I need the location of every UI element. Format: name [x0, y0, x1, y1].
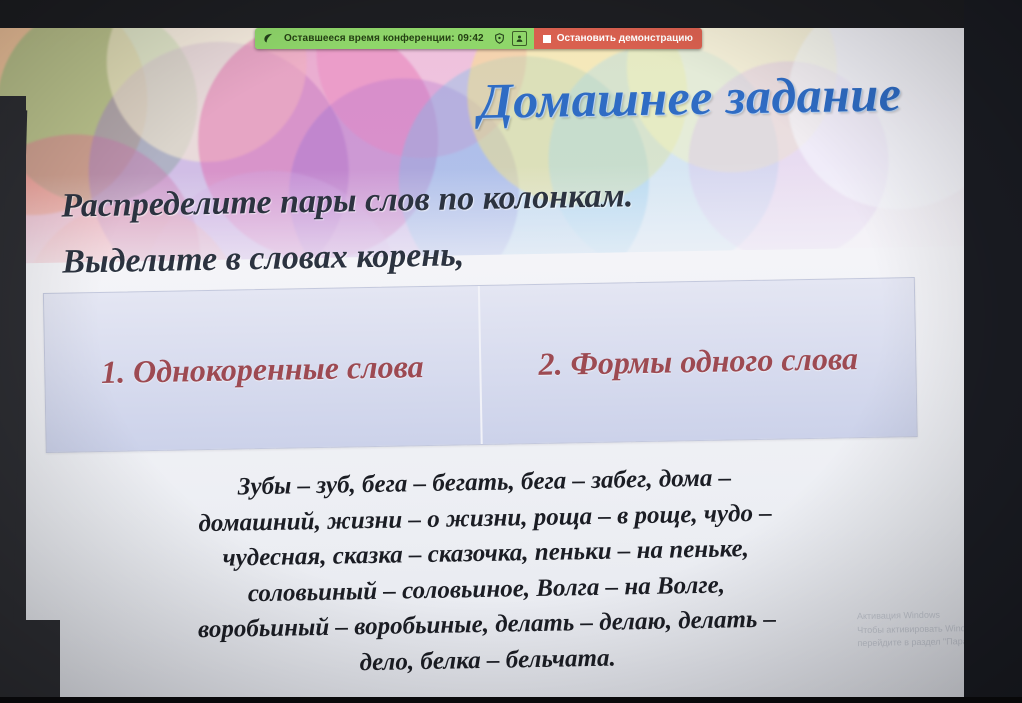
screen-bezel-right: [964, 0, 1022, 703]
stop-share-button[interactable]: Остановить демонстрацию: [534, 28, 702, 49]
instruction-line-2: Выделите в словах корень,: [62, 236, 465, 281]
column-header-label: 1. Однокоренные слова: [101, 346, 424, 393]
stop-share-label: Остановить демонстрацию: [557, 33, 693, 44]
leaf-icon: [262, 33, 274, 45]
columns-table: 1. Однокоренные слова 2. Формы одного сл…: [43, 277, 918, 453]
participants-icon[interactable]: [512, 31, 527, 46]
word-pairs-list: Зубы – зуб, бега – бегать, бега – забег,…: [34, 457, 938, 686]
zoom-share-toolbar[interactable]: Оставшееся время конференции: 09:42 Оста…: [255, 28, 702, 49]
share-toolbar-green-section: Оставшееся время конференции: 09:42: [255, 28, 534, 49]
screenshot-root: Домашнее задание Распределите пары слов …: [0, 0, 1022, 703]
page-title: Домашнее задание: [417, 63, 963, 131]
screen-bezel-bottom: [0, 697, 1022, 703]
table-column-1: 1. Однокоренные слова: [44, 286, 481, 452]
shield-icon[interactable]: [494, 33, 506, 45]
conference-timer-label: Оставшееся время конференции: 09:42: [280, 33, 488, 44]
stop-square-icon: [543, 35, 551, 43]
screen-bezel-left-lower: [0, 620, 60, 703]
projected-screen: Домашнее задание Распределите пары слов …: [0, 8, 998, 703]
column-header-label: 2. Формы одного слова: [538, 338, 858, 385]
table-column-2: 2. Формы одного слова: [478, 278, 917, 444]
screen-bezel-top: [0, 0, 1022, 28]
